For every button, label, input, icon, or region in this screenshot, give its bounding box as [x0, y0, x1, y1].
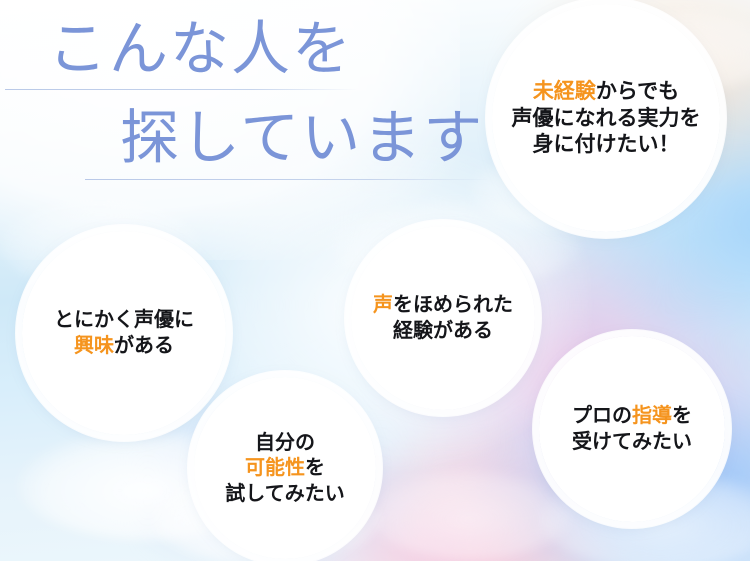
- plain-run: 受けてみたい: [572, 429, 692, 453]
- headline-divider-2: [85, 179, 490, 180]
- headline-divider-1: [5, 89, 357, 90]
- plain-run: 経験がある: [393, 318, 493, 342]
- plain-run: を: [305, 455, 325, 479]
- highlight-run: 未経験: [533, 79, 596, 103]
- plain-run: をほめられた: [393, 292, 513, 316]
- bubble-interested-in-voice-acting: とにかく声優に興味がある: [22, 231, 226, 435]
- plain-run: を: [672, 403, 692, 427]
- headline-line-1: こんな人を: [0, 18, 520, 80]
- recruit-banner: こんな人を 探しています 未経験からでも声優になれる実力を身に付けたい！ とにか…: [0, 0, 750, 561]
- plain-run: 試してみたい: [225, 481, 344, 505]
- plain-run: 声優になれる実力を: [512, 106, 701, 130]
- bubble-text: 未経験からでも声優になれる実力を身に付けたい！: [512, 78, 701, 159]
- bubble-text: 声をほめられた経験がある: [373, 292, 513, 343]
- plain-run: がある: [114, 333, 174, 357]
- highlight-run: 興味: [74, 333, 114, 357]
- plain-run: プロの: [572, 403, 632, 427]
- highlight-run: 指導: [632, 403, 672, 427]
- bubble-inexperienced-ok: 未経験からでも声優になれる実力を身に付けたい！: [492, 4, 720, 232]
- bubble-test-my-potential: 自分の可能性を試してみたい: [194, 377, 376, 559]
- bubble-text: 自分の可能性を試してみたい: [225, 430, 344, 507]
- bubble-pro-instruction: プロの指導を受けてみたい: [539, 336, 725, 522]
- plain-run: 身に付けたい！: [533, 132, 680, 156]
- highlight-run: 可能性: [245, 455, 305, 479]
- plain-run: からでも: [596, 79, 679, 103]
- bubble-text: とにかく声優に興味がある: [54, 307, 194, 358]
- plain-run: 自分の: [255, 430, 315, 454]
- headline-line-2: 探しています: [0, 107, 520, 169]
- plain-run: とにかく声優に: [54, 307, 194, 331]
- highlight-run: 声: [373, 292, 393, 316]
- bubble-text: プロの指導を受けてみたい: [572, 403, 692, 454]
- headline-block: こんな人を 探しています: [0, 18, 520, 180]
- bubble-praised-for-voice: 声をほめられた経験がある: [351, 226, 535, 410]
